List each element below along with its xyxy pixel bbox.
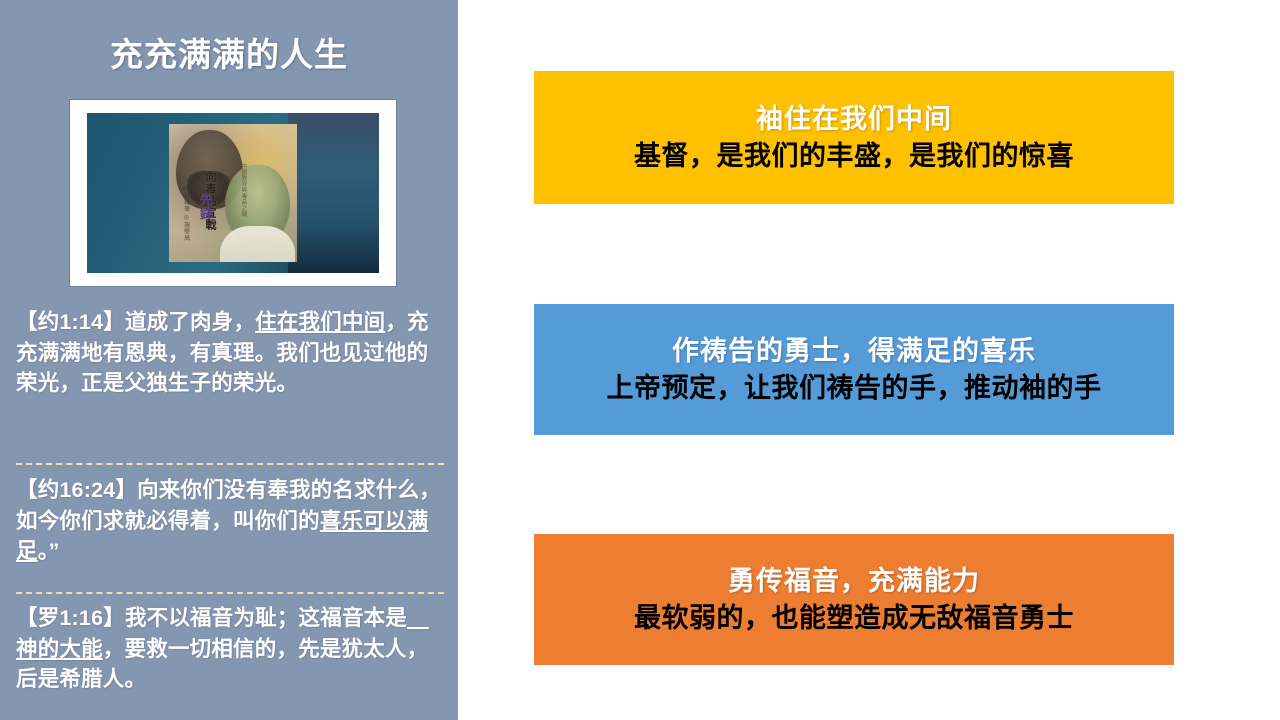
verse-reference: 【罗1:16】 xyxy=(16,606,125,630)
verse-text: 。” xyxy=(38,539,60,563)
scripture-verse-john-16-24: 【约16:24】向来你们没有奉我的名求什么，如今你们求就必得着，叫你们的喜乐可以… xyxy=(16,475,446,567)
scripture-verse-john-1-14: 【约1:14】道成了肉身，住在我们中间，充充满满地有恩典，有真理。我们也见过他的… xyxy=(16,307,446,399)
sidebar-panel: 充充满满的人生 中國教育與毒品之戰 向毒品宣戰 先鋒 ◎林輔華 ◎施榮高 【约1… xyxy=(0,0,458,720)
verse-reference: 【约16:24】 xyxy=(16,478,137,502)
cover-title-accent: 先鋒 xyxy=(196,193,215,221)
page-title: 充充满满的人生 xyxy=(0,36,458,74)
point-box-subheading: 上帝预定，让我们祷告的手，推动袖的手 xyxy=(607,372,1102,404)
verse-divider xyxy=(16,463,444,465)
picture-frame: 中國教育與毒品之戰 向毒品宣戰 先鋒 ◎林輔華 ◎施榮高 xyxy=(69,99,397,287)
point-box-heading: 勇传福音，充满能力 xyxy=(728,565,980,597)
portrait-robe-icon xyxy=(220,226,295,262)
cover-artwork: 中國教育與毒品之戰 向毒品宣戰 先鋒 ◎林輔華 ◎施榮高 xyxy=(169,124,297,262)
verse-emphasis: 住在我们中间 xyxy=(255,310,385,334)
cover-author-line: ◎林輔華 ◎施榮高 xyxy=(182,185,191,241)
scripture-verse-romans-1-16: 【罗1:16】我不以福音为耻；这福音本是 神的大能，要救一切相信的，先是犹太人，… xyxy=(16,603,446,695)
verse-reference: 【约1:14】 xyxy=(16,310,125,334)
book-cover-image: 中國教育與毒品之戰 向毒品宣戰 先鋒 ◎林輔華 ◎施榮高 xyxy=(87,113,379,273)
point-box-prayer[interactable]: 作祷告的勇士，得满足的喜乐 上帝预定，让我们祷告的手，推动袖的手 xyxy=(534,304,1174,435)
point-box-heading: 作祷告的勇士，得满足的喜乐 xyxy=(672,335,1036,367)
verse-divider xyxy=(16,592,444,594)
verse-text: 道成了肉身， xyxy=(125,310,255,334)
cover-background-band xyxy=(288,113,379,273)
point-box-dwelling[interactable]: 袖住在我们中间 基督，是我们的丰盛，是我们的惊喜 xyxy=(534,71,1174,204)
point-box-heading: 袖住在我们中间 xyxy=(756,103,952,135)
point-box-gospel[interactable]: 勇传福音，充满能力 最软弱的，也能塑造成无敌福音勇士 xyxy=(534,534,1174,665)
verse-text: 我不以福音为耻；这福音本是 xyxy=(125,606,407,630)
point-box-subheading: 基督，是我们的丰盛，是我们的惊喜 xyxy=(634,140,1074,172)
cover-top-line: 中國教育與毒品之戰 xyxy=(239,163,247,217)
point-box-subheading: 最软弱的，也能塑造成无敌福音勇士 xyxy=(634,602,1074,634)
